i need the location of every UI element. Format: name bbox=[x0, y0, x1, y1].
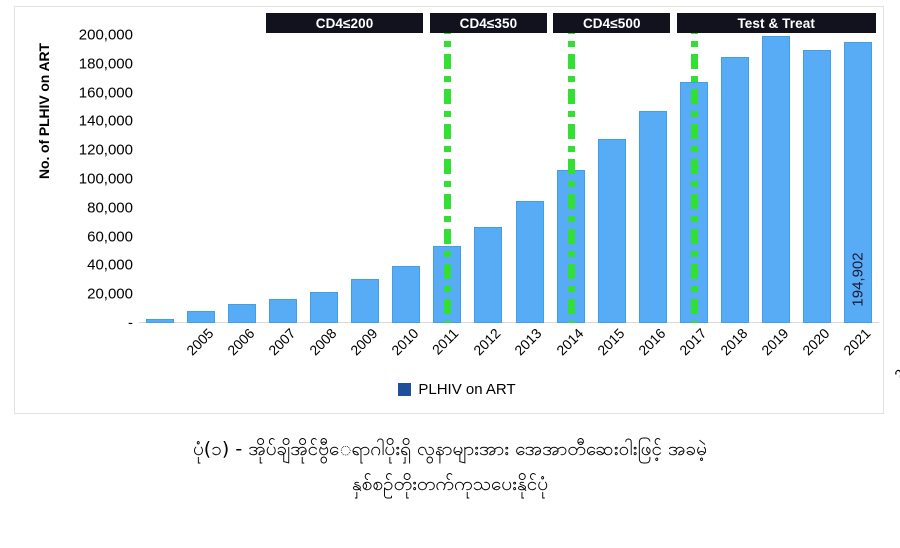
x-axis-tick: 2022 June bbox=[892, 325, 900, 383]
y-axis-tick: 180,000 bbox=[79, 56, 133, 71]
era-banner: Test & Treat bbox=[677, 13, 876, 33]
y-axis-tick: 140,000 bbox=[79, 114, 133, 129]
era-banner: CD4≤200 bbox=[266, 13, 424, 33]
x-axis-tick: 2008 bbox=[306, 325, 339, 358]
y-axis-tick: 100,000 bbox=[79, 172, 133, 187]
bar[interactable] bbox=[516, 201, 544, 323]
bar[interactable] bbox=[269, 299, 297, 323]
x-axis-tick: 2012 bbox=[470, 325, 503, 358]
y-axis-tick: 40,000 bbox=[87, 258, 133, 273]
legend-swatch-plhiv-on-art bbox=[398, 383, 411, 396]
bar[interactable] bbox=[762, 36, 790, 323]
bar[interactable]: 194,902 bbox=[844, 42, 872, 323]
x-axis-tick: 2007 bbox=[265, 325, 298, 358]
plot-area: 194,902 bbox=[139, 35, 879, 323]
bar[interactable] bbox=[803, 50, 831, 323]
bar[interactable] bbox=[146, 319, 174, 323]
x-axis-tick: 2010 bbox=[388, 325, 421, 358]
chart-legend: PLHIV on ART bbox=[15, 381, 899, 398]
era-banner: CD4≤350 bbox=[430, 13, 547, 33]
x-axis-tick: 2006 bbox=[224, 325, 257, 358]
x-axis-tick: 2015 bbox=[594, 325, 627, 358]
y-axis-tick-labels: 200,000180,000160,000140,000120,000100,0… bbox=[41, 35, 133, 327]
y-axis-tick: 120,000 bbox=[79, 143, 133, 158]
x-axis-tick: 2013 bbox=[512, 325, 545, 358]
bar-value-label: 194,902 bbox=[850, 252, 867, 306]
bar[interactable] bbox=[639, 111, 667, 323]
figure-caption: ပုံ(၁) - အိုပ်ချိအိုင်ဗွီေရာဂါပိုးရှိ လွ… bbox=[0, 432, 900, 502]
x-axis-tick: 2014 bbox=[553, 325, 586, 358]
policy-change-marker-line bbox=[444, 19, 451, 323]
x-axis-tick: 2011 bbox=[429, 325, 462, 358]
x-axis-tick: 2017 bbox=[676, 325, 709, 358]
x-axis-tick: 2020 bbox=[799, 325, 832, 358]
policy-change-marker-line bbox=[568, 19, 575, 323]
x-axis-tick: 2018 bbox=[717, 325, 750, 358]
bar[interactable] bbox=[228, 304, 256, 323]
bar[interactable] bbox=[310, 292, 338, 323]
era-banner: CD4≤500 bbox=[553, 13, 670, 33]
x-axis-tick: 2005 bbox=[183, 325, 216, 358]
bar[interactable] bbox=[474, 227, 502, 323]
chart-container: No. of PLHIV on ART 200,000180,000160,00… bbox=[14, 6, 884, 414]
bar[interactable] bbox=[598, 139, 626, 323]
y-axis-tick: 60,000 bbox=[87, 229, 133, 244]
caption-line-1: ပုံ(၁) - အိုပ်ချိအိုင်ဗွီေရာဂါပိုးရှိ လွ… bbox=[0, 432, 900, 467]
y-axis-tick: 200,000 bbox=[79, 28, 133, 43]
y-axis-tick: 160,000 bbox=[79, 85, 133, 100]
caption-line-2: နှစ်စဉ်တိုးတက်ကုသပေးနိုင်ပုံ bbox=[0, 467, 900, 502]
bar[interactable] bbox=[187, 311, 215, 323]
x-axis-tick: 2019 bbox=[758, 325, 791, 358]
x-axis-tick: 2016 bbox=[635, 325, 668, 358]
y-axis-tick: 80,000 bbox=[87, 200, 133, 215]
bar[interactable] bbox=[721, 57, 749, 323]
x-axis-tick: 2009 bbox=[347, 325, 380, 358]
x-axis-tick: 2021 bbox=[840, 325, 873, 358]
legend-label-plhiv-on-art: PLHIV on ART bbox=[418, 381, 515, 398]
y-axis-tick: 20,000 bbox=[87, 287, 133, 302]
bar[interactable] bbox=[351, 279, 379, 323]
policy-change-marker-line bbox=[691, 19, 698, 323]
y-axis-tick: - bbox=[128, 316, 133, 331]
bar[interactable] bbox=[392, 266, 420, 323]
